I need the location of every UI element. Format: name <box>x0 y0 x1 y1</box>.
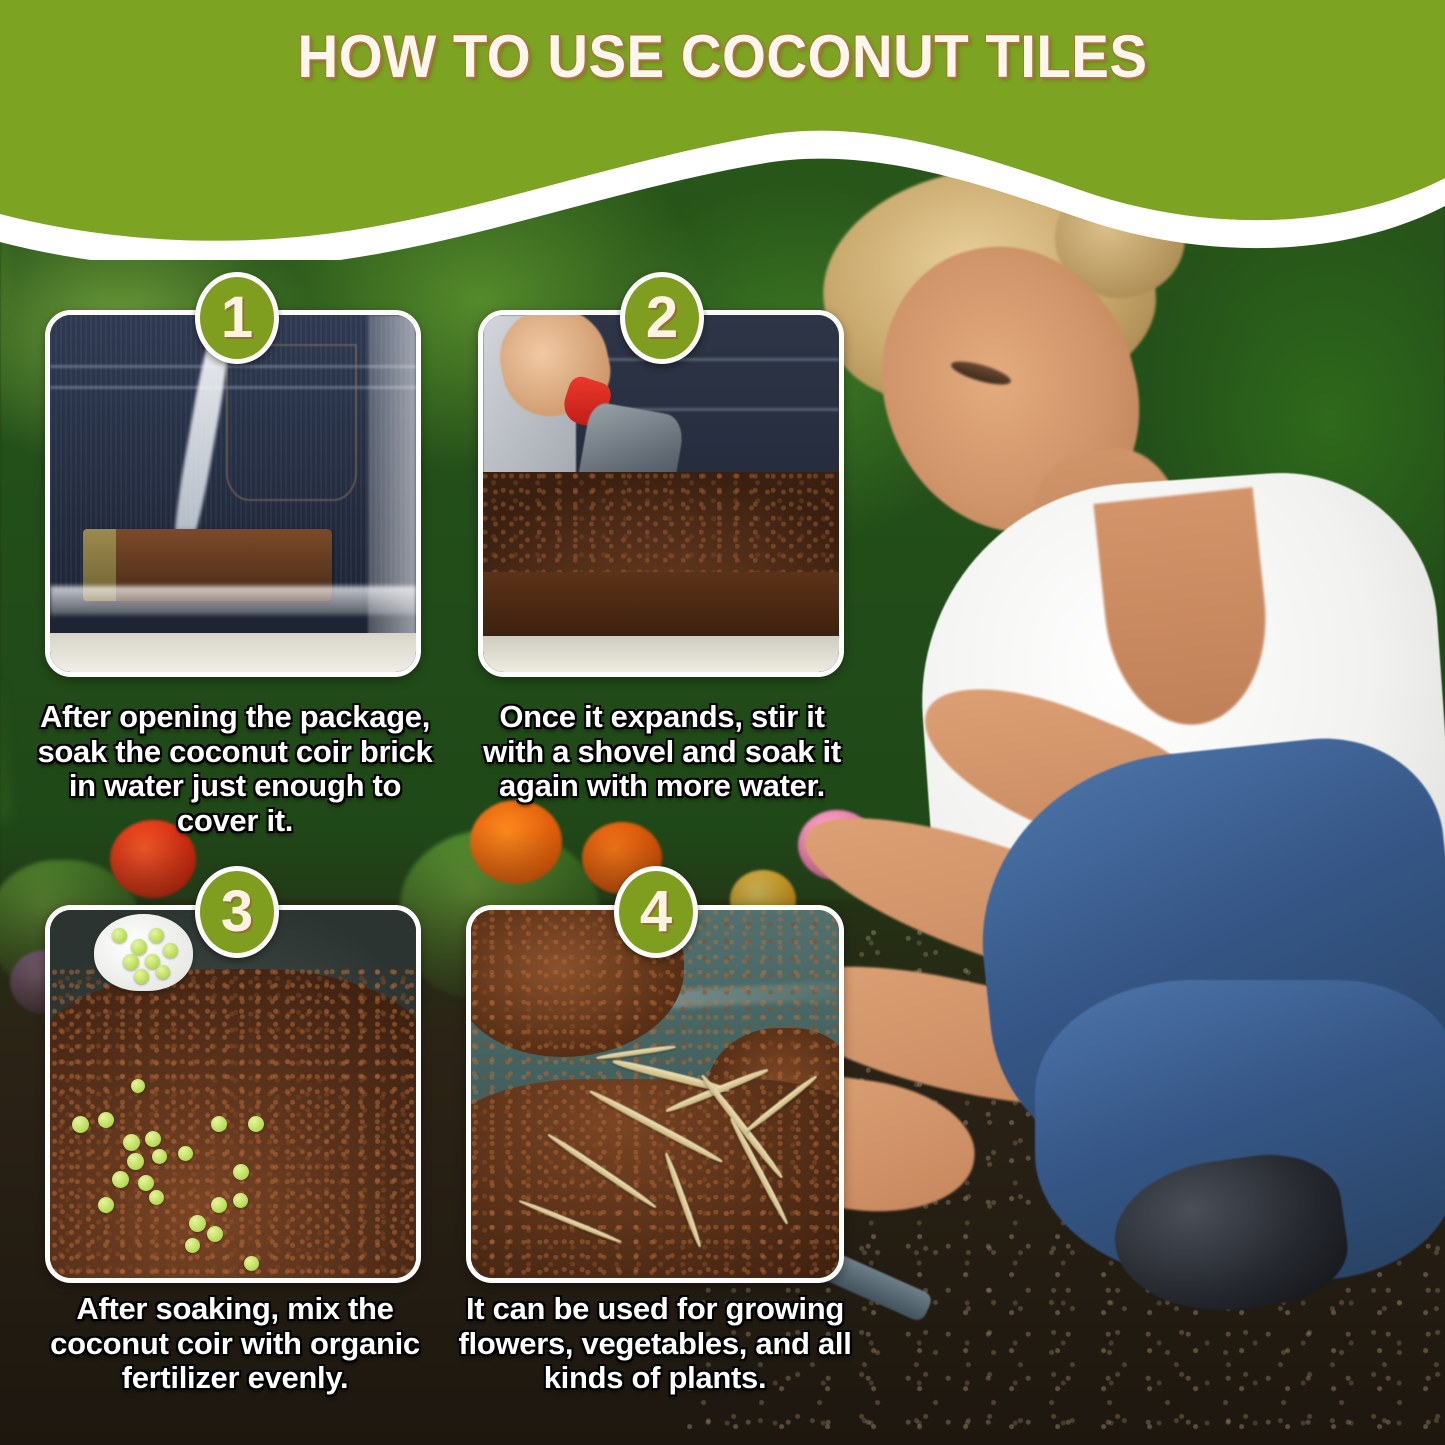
step-1-number-badge: 1 <box>195 272 279 364</box>
step-1-number: 1 <box>221 289 253 347</box>
step-3-number-badge: 3 <box>195 866 279 958</box>
step-4-number-badge: 4 <box>614 866 698 958</box>
infographic-stage: HOW TO USE COCONUT TILES 1 After opening… <box>0 0 1445 1445</box>
step-3-number: 3 <box>221 883 253 941</box>
step-2-number-badge: 2 <box>620 272 704 364</box>
step-4-caption: It can be used for growing flowers, vege… <box>452 1292 858 1396</box>
step-4-number: 4 <box>640 883 672 941</box>
step-3-photo <box>50 910 416 1278</box>
step-2-number: 2 <box>646 289 678 347</box>
gardener-figure <box>805 150 1445 1445</box>
step-2-caption: Once it expands, stir it with a shovel a… <box>466 700 858 804</box>
step-1-image-panel <box>45 310 421 677</box>
step-3-image-panel <box>45 905 421 1283</box>
step-4-photo <box>471 910 839 1278</box>
step-3-caption: After soaking, mix the coconut coir with… <box>30 1292 440 1396</box>
step-1-caption: After opening the package, soak the coco… <box>30 700 440 839</box>
page-title: HOW TO USE COCONUT TILES <box>43 22 1401 91</box>
step-1-photo <box>50 315 416 672</box>
header-band: HOW TO USE COCONUT TILES <box>0 0 1445 260</box>
step-4-image-panel <box>466 905 844 1283</box>
step-2-image-panel <box>478 310 844 677</box>
step-2-photo <box>483 315 839 672</box>
